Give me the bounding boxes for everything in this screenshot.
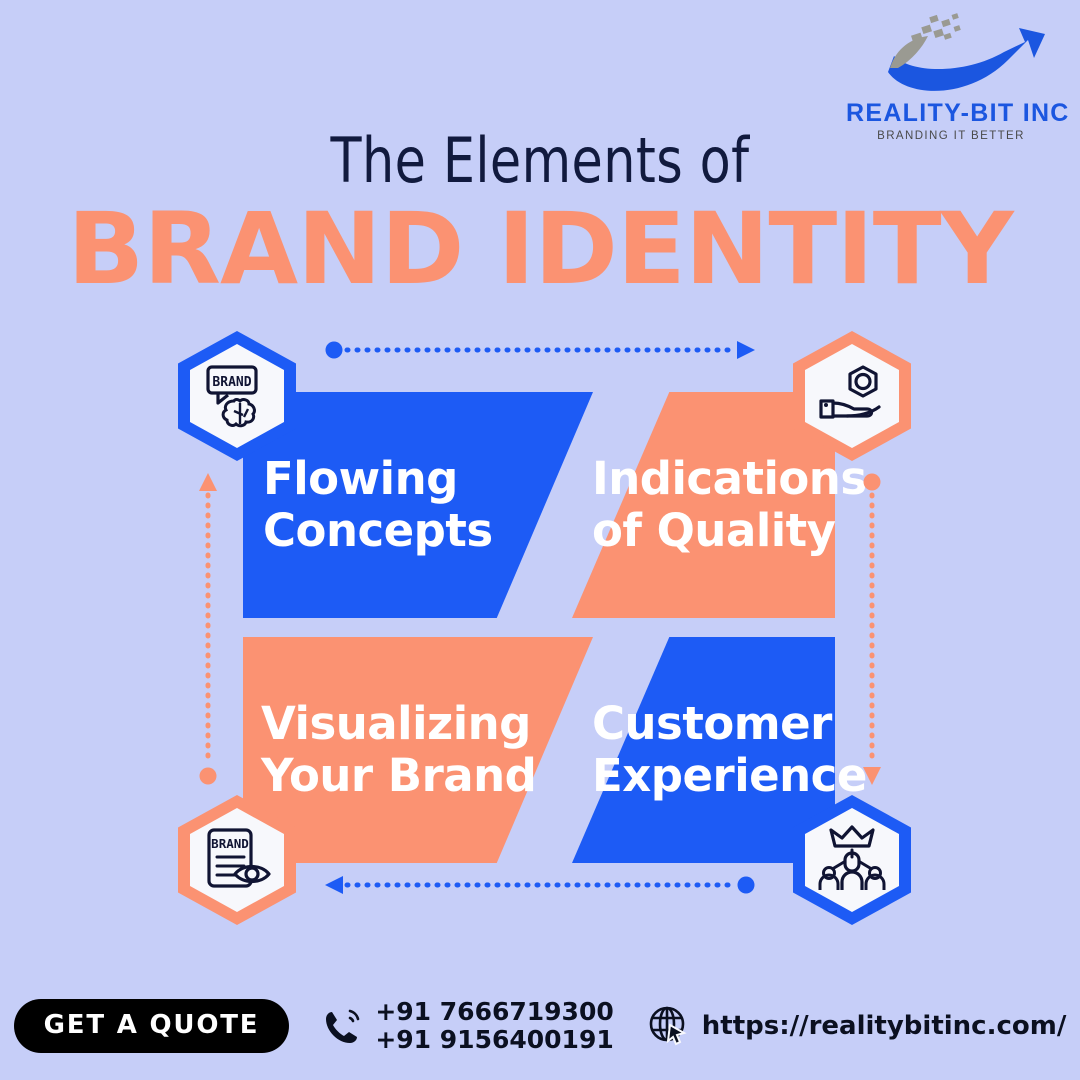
connector-arrow-top xyxy=(325,341,755,359)
brand-speech-bubble-brain-icon: BRAND xyxy=(198,359,276,433)
phone-number-1: +91 7666719300 xyxy=(375,998,613,1026)
card-label-line-2: Your Brand xyxy=(261,750,536,802)
card-label: Indications of Quality xyxy=(572,453,867,557)
get-a-quote-button[interactable]: GET A QUOTE xyxy=(14,999,290,1053)
footer-bar: GET A QUOTE +91 7666719300 +91 915640019… xyxy=(0,998,1080,1054)
card-label-line-1: Customer xyxy=(592,698,867,750)
connector-arrow-right xyxy=(863,473,881,785)
website-group[interactable]: https://realitybitinc.com/ xyxy=(648,1005,1067,1047)
card-label: Visualizing Your Brand xyxy=(243,698,536,802)
connector-arrow-left xyxy=(199,473,217,785)
element-icon-badge-customer-experience[interactable] xyxy=(793,795,911,925)
hand-holding-gem-icon xyxy=(813,361,891,431)
element-icon-badge-indications-of-quality[interactable] xyxy=(793,331,911,461)
element-icon-badge-visualizing-your-brand[interactable]: BRAND xyxy=(178,795,296,925)
card-label-line-1: Visualizing xyxy=(261,698,536,750)
phone-call-icon xyxy=(323,1006,363,1046)
card-label: Customer Experience xyxy=(572,698,867,802)
connector-arrow-bottom xyxy=(325,876,755,894)
brand-document-eye-icon: BRAND xyxy=(199,824,275,896)
svg-text:BRAND: BRAND xyxy=(211,836,249,851)
brand-identity-diagram: Flowing Concepts Indications of Quality … xyxy=(0,0,1080,1080)
element-icon-badge-flowing-concepts[interactable]: BRAND xyxy=(178,331,296,461)
phone-number-2: +91 9156400191 xyxy=(375,1026,613,1054)
phone-contact-group[interactable]: +91 7666719300 +91 9156400191 xyxy=(323,998,613,1054)
card-label-line-1: Flowing xyxy=(263,453,493,505)
crown-over-people-icon xyxy=(814,824,890,896)
card-label: Flowing Concepts xyxy=(243,453,493,557)
card-label-line-2: Concepts xyxy=(263,505,493,557)
globe-cursor-icon xyxy=(648,1005,690,1047)
website-url[interactable]: https://realitybitinc.com/ xyxy=(702,1011,1067,1041)
svg-text:BRAND: BRAND xyxy=(212,375,251,390)
card-label-line-2: of Quality xyxy=(592,505,867,557)
phone-numbers: +91 7666719300 +91 9156400191 xyxy=(375,998,613,1054)
